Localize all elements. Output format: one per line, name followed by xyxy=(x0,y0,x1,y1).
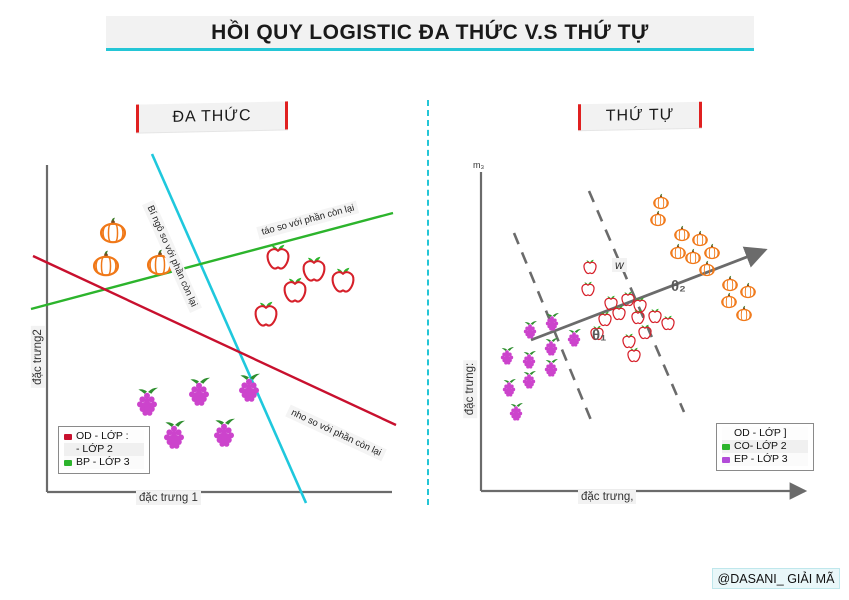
right-legend-label-1: OD - LỚP ] xyxy=(734,427,787,440)
right-legend-row-1: OD - LỚP ] xyxy=(722,427,808,440)
right-legend-row-3: EP - LỚP 3 xyxy=(722,453,808,466)
right-legend-swatch-3 xyxy=(722,457,730,463)
watermark: @DASANI_ GIẢI MÃ xyxy=(712,568,840,589)
right-panel-figure xyxy=(0,0,849,600)
right-y-axis-tick: m₃ xyxy=(473,160,484,170)
right-series-apple xyxy=(582,260,674,362)
right-legend: OD - LỚP ] CO- LỚP 2 EP - LỚP 3 xyxy=(716,423,814,471)
right-series-pumpkin xyxy=(651,194,755,321)
right-legend-swatch-2 xyxy=(722,444,730,450)
watermark-label: @DASANI_ GIẢI MÃ xyxy=(718,572,835,586)
threshold-line-theta2 xyxy=(589,191,684,412)
right-legend-row-2: CO- LỚP 2 xyxy=(722,440,808,453)
right-legend-label-2: CO- LỚP 2 xyxy=(734,440,787,453)
threshold-label-theta2: θ₂ xyxy=(671,278,686,295)
poster-root: HỒI QUY LOGISTIC ĐA THỨC V.S THỨ TỰ ĐA T… xyxy=(0,0,849,600)
threshold-label-theta1: θ₁ xyxy=(592,327,606,344)
right-series-grape xyxy=(501,313,581,420)
right-x-axis-label: đặc trưng, xyxy=(578,490,636,504)
right-y-axis-label: đặc trưng: xyxy=(463,360,477,418)
right-legend-label-3: EP - LỚP 3 xyxy=(734,453,788,466)
direction-vector-label: w xyxy=(612,258,627,272)
